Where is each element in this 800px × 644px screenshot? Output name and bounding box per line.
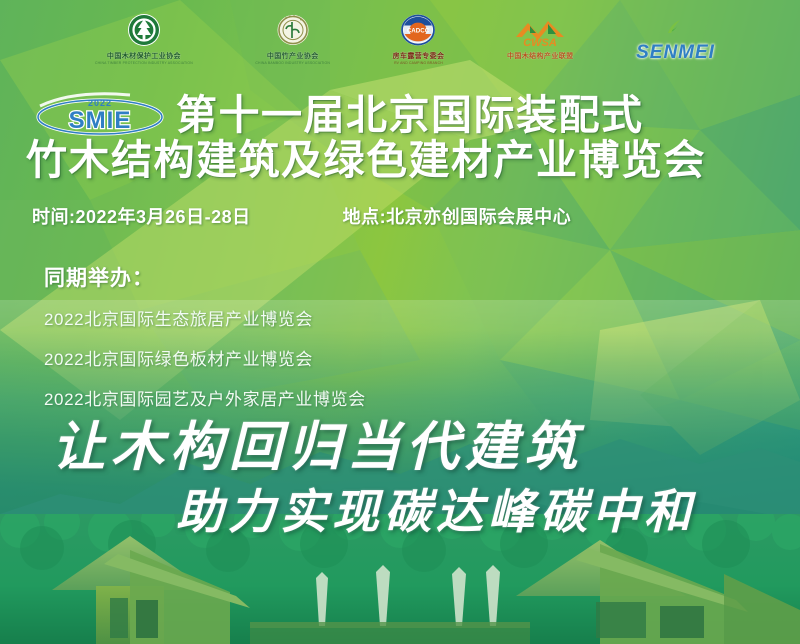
pine-tree-shield-icon (127, 13, 161, 52)
sponsor-logo-cwsa: CWSA 中国木结构产业联盟 (507, 11, 574, 67)
sponsor-cn-name: 中国竹产业协会 (267, 53, 319, 61)
concurrent-events-title: 同期举办： (44, 262, 564, 292)
sponsor-logo-strip: 中国木材保护工业协会 CHINA TIMBER PROTECTION INDUS… (95, 8, 715, 70)
slogan-line-1-wrap: 让木构回归当代建筑 (52, 418, 583, 476)
concurrent-event-item: 2022北京国际绿色板材产业博览会 (44, 345, 564, 370)
leaf-sprout-icon (665, 15, 687, 42)
event-meta-row: 时间:2022年3月26日-28日 地点:北京亦创国际会展中心 (32, 203, 772, 229)
sponsor-cn-name: 中国木材保护工业协会 (107, 53, 181, 61)
concurrent-event-item: 2022北京国际生态旅居产业博览会 (44, 305, 564, 330)
sponsor-en-name: CHINA TIMBER PROTECTION INDUSTRY ASSOCIA… (95, 61, 193, 65)
headline-line-2: 竹木结构建筑及绿色建材产业博览会 (26, 137, 786, 183)
event-date: 时间:2022年3月26日-28日 (32, 203, 251, 229)
house-roof-icon: CWSA (512, 17, 568, 52)
sponsor-logo-senmei: SENMEI (636, 11, 715, 67)
sponsor-logo-bamboo-industry-association: 中国竹产业协会 CHINA BAMBOO INDUSTRY ASSOCIATIO… (255, 11, 330, 67)
concurrent-events-block: 同期举办： 2022北京国际生态旅居产业博览会 2022北京国际绿色板材产业博览… (44, 262, 564, 425)
exhibition-poster: 中国木材保护工业协会 CHINA TIMBER PROTECTION INDUS… (0, 0, 800, 644)
headline-line-2-wrap: 竹木结构建筑及绿色建材产业博览会 (26, 137, 786, 183)
svg-text:SMIE: SMIE (69, 107, 132, 134)
slogan-line-2: 助力实现碳达峰碳中和 (176, 487, 696, 539)
event-venue: 地点:北京亦创国际会展中心 (343, 203, 572, 229)
headline-line-1-wrap: 第十一届北京国际装配式 (176, 92, 788, 138)
svg-text:CADCC: CADCC (407, 27, 430, 34)
sponsor-en-name: RV AND CAMPING BRANCH (394, 61, 443, 65)
smie-ellipse-logo: 2022 SMIE (34, 92, 166, 138)
sponsor-en-name: CHINA BAMBOO INDUSTRY ASSOCIATION (255, 61, 330, 65)
sponsor-cn-name: 中国木结构产业联盟 (507, 53, 574, 61)
sponsor-cn-name: 房车露营专委会 (393, 53, 445, 61)
senmei-wordmark: SENMEI (636, 42, 715, 64)
sponsor-logo-china-timber-protection-association: 中国木材保护工业协会 CHINA TIMBER PROTECTION INDUS… (95, 11, 193, 67)
slogan-line-1: 让木构回归当代建筑 (52, 418, 583, 476)
concurrent-event-item: 2022北京国际园艺及户外家居产业博览会 (44, 385, 564, 410)
cadcc-badge-icon: CADCC (400, 13, 436, 52)
svg-text:CWSA: CWSA (523, 37, 557, 47)
slogan-line-2-wrap: 助力实现碳达峰碳中和 (176, 487, 696, 539)
bamboo-seal-icon (276, 13, 310, 52)
headline-line-1: 第十一届北京国际装配式 (176, 92, 788, 138)
sponsor-logo-cadcc-rv-camping-committee: CADCC 房车露营专委会 RV AND CAMPING BRANCH (393, 11, 445, 67)
